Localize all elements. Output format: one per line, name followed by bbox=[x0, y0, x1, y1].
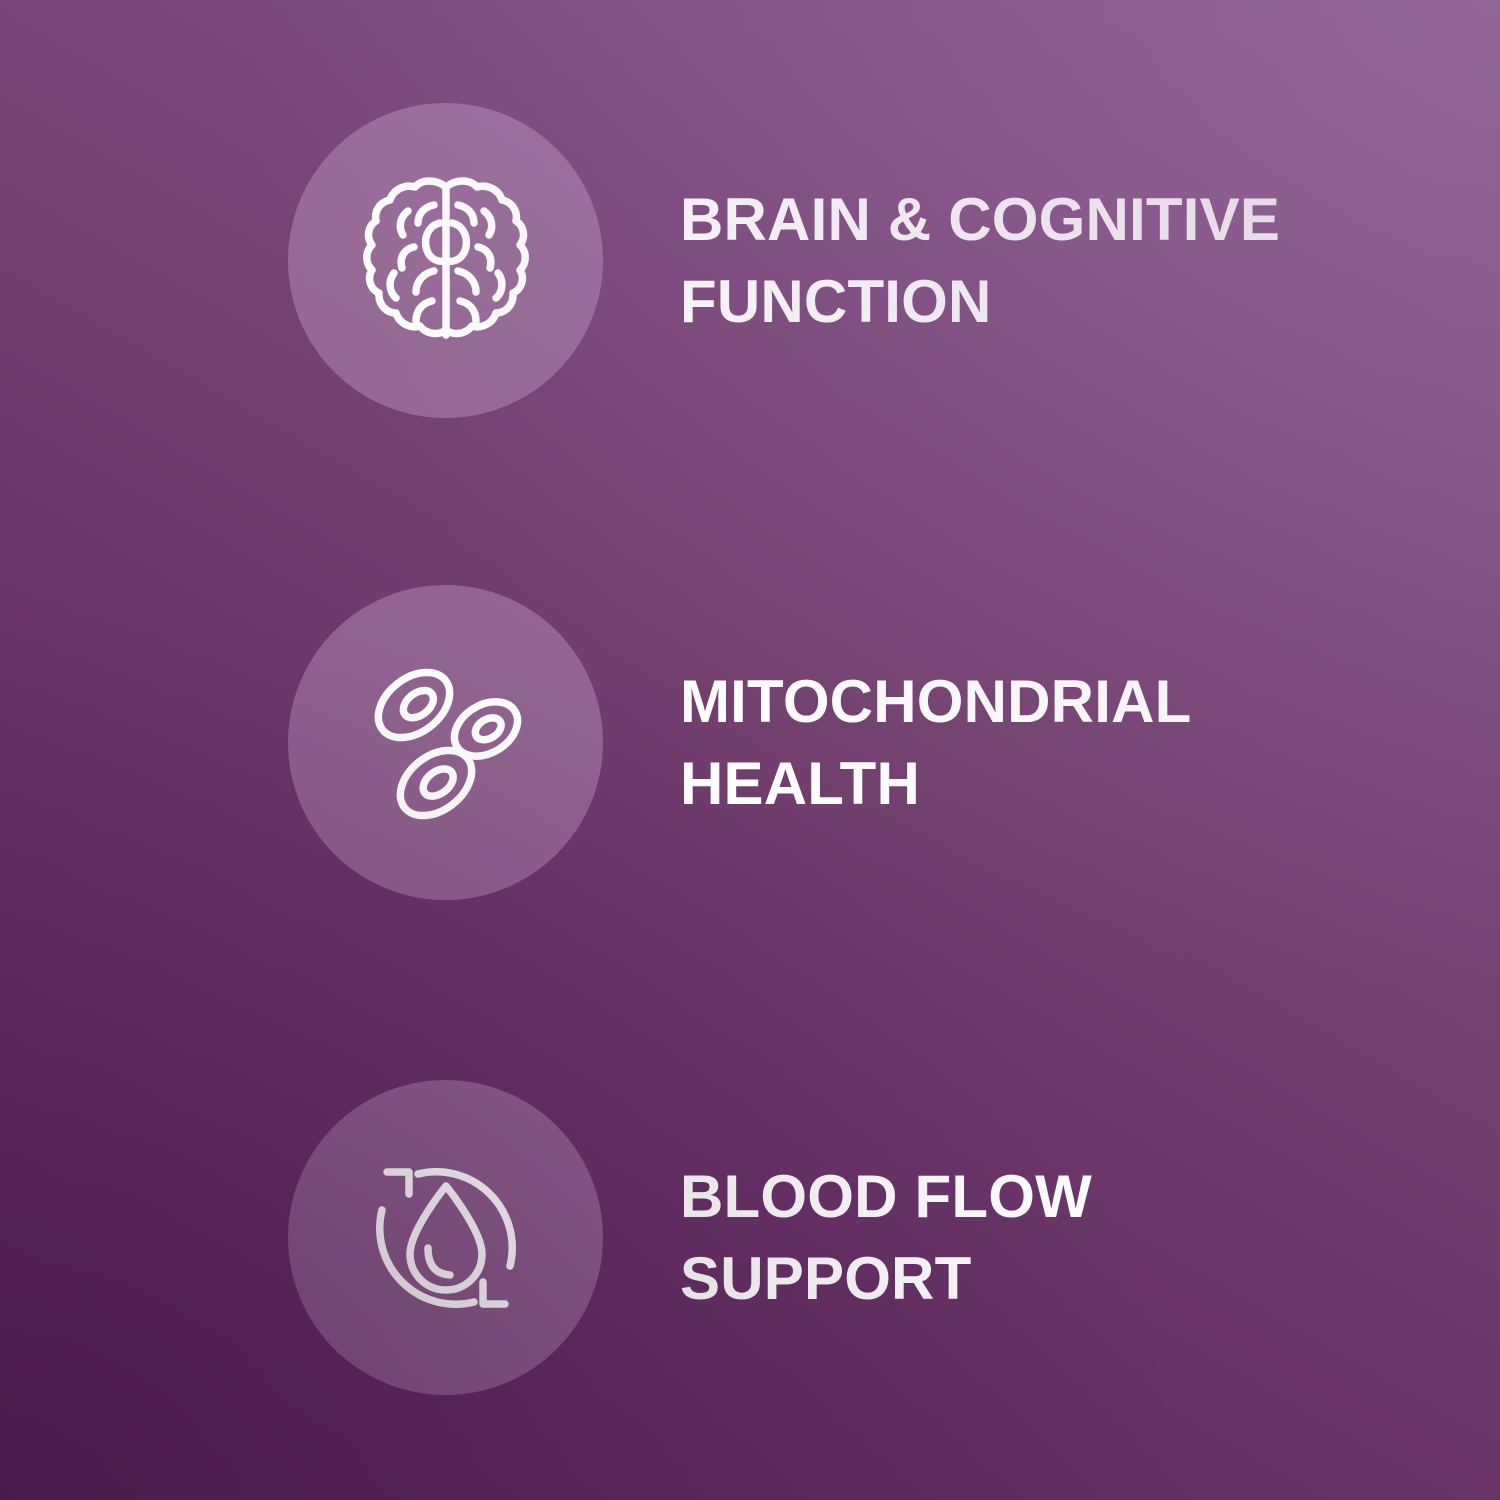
feature-row: MITOCHONDRIAL HEALTH bbox=[0, 585, 1500, 900]
icon-badge-brain bbox=[288, 103, 603, 418]
feature-label-brain: BRAIN & COGNITIVE FUNCTION bbox=[680, 179, 1280, 343]
benefits-panel: BRAIN & COGNITIVE FUNCTION bbox=[0, 0, 1500, 1500]
icon-badge-mitochondria bbox=[288, 585, 603, 900]
icon-badge-blood-flow bbox=[288, 1080, 603, 1395]
feature-row: BLOOD FLOW SUPPORT bbox=[0, 1080, 1500, 1395]
feature-label-mitochondrial: MITOCHONDRIAL HEALTH bbox=[680, 661, 1191, 825]
feature-label-blood-flow: BLOOD FLOW SUPPORT bbox=[680, 1156, 1092, 1320]
brain-icon bbox=[346, 161, 546, 361]
feature-row: BRAIN & COGNITIVE FUNCTION bbox=[0, 103, 1500, 418]
mitochondria-cells-icon bbox=[346, 643, 546, 843]
blood-flow-droplet-cycle-icon bbox=[346, 1138, 546, 1338]
